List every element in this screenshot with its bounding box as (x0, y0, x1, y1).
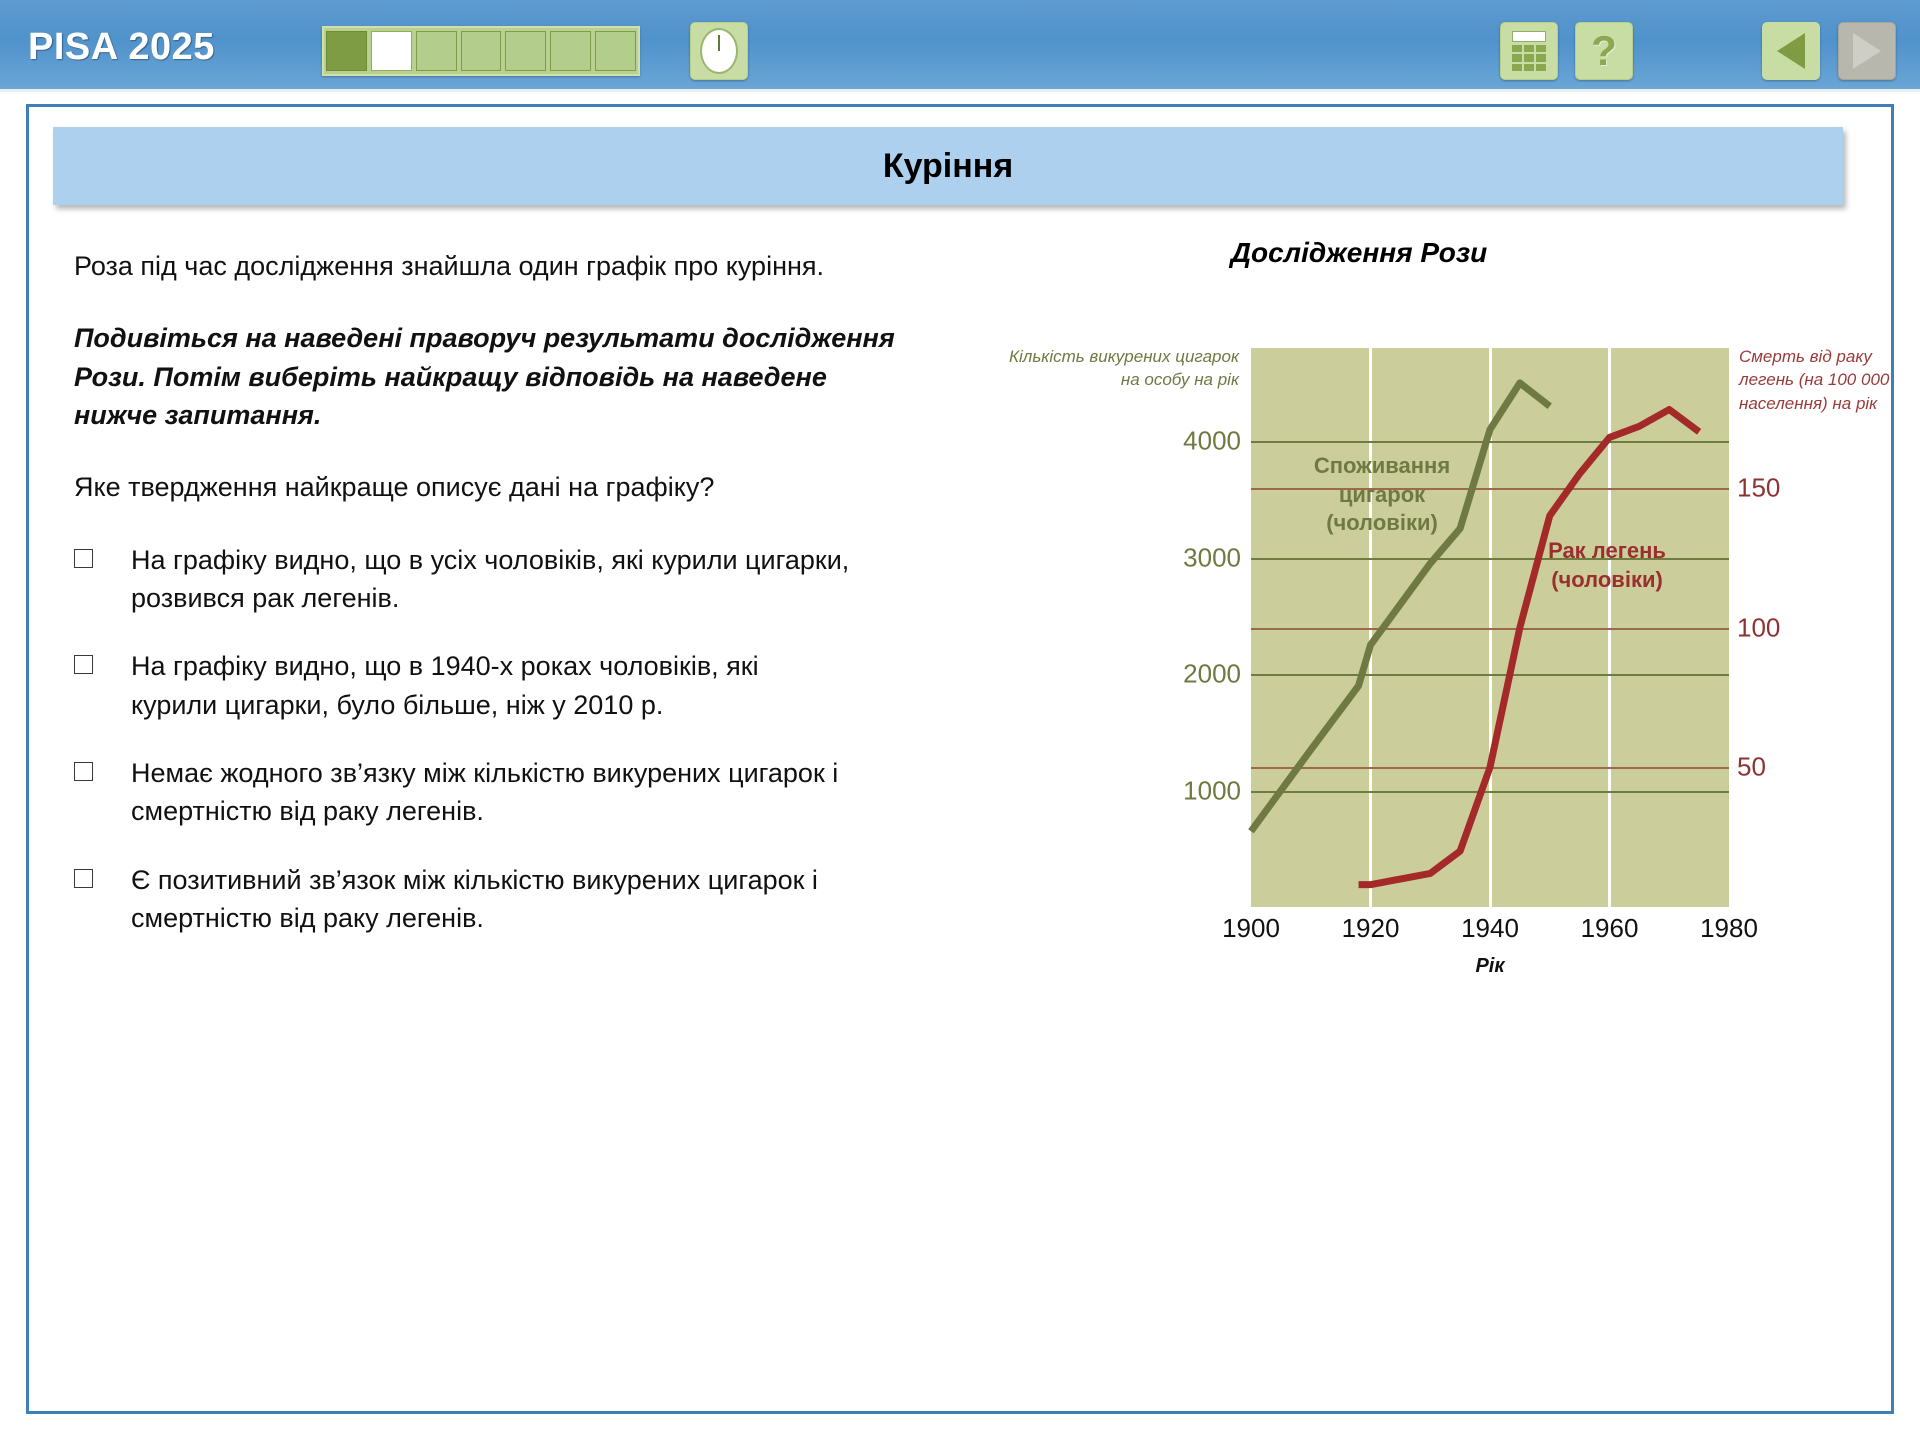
question-mark-icon: ? (1591, 30, 1617, 72)
option-checkbox-2[interactable] (74, 655, 93, 674)
triangle-left-icon (1777, 33, 1805, 69)
progress-segment (326, 31, 367, 71)
chart-x-tick-label: 1900 (1222, 913, 1280, 944)
page-title-band: Куріння (53, 127, 1843, 205)
option-checkbox-3[interactable] (74, 762, 93, 781)
chart-left-tick-label: 2000 (1121, 659, 1241, 690)
chart-left-tick-label: 4000 (1121, 426, 1241, 457)
option-row[interactable]: На графіку видно, що в 1940-х роках чоло… (74, 647, 904, 724)
option-label-1: На графіку видно, що в усіх чоловіків, я… (131, 541, 851, 618)
clock-icon (700, 28, 738, 74)
instruction-paragraph: Подивіться на наведені праворуч результа… (74, 319, 904, 434)
question-column: Роза під час дослідження знайшла один гр… (74, 247, 904, 967)
progress-segment (371, 31, 412, 71)
chart-line-cigarettes (1251, 383, 1550, 831)
chart-left-axis-label: Кількість викурених цигарок на особу на … (999, 345, 1239, 392)
chart-title: Дослідження Рози (899, 237, 1819, 269)
option-label-3: Немає жодного зв’язку між кількістю вику… (131, 754, 851, 831)
chart-x-tick-label: 1920 (1342, 913, 1400, 944)
next-button[interactable] (1838, 22, 1896, 80)
chart-left-tick-label: 3000 (1121, 542, 1241, 573)
chart-right-tick-label: 100 (1737, 612, 1857, 643)
progress-bar[interactable] (322, 26, 640, 76)
progress-segment (505, 31, 546, 71)
triangle-right-icon (1853, 33, 1881, 69)
series-label-cancer: Рак легень(чоловіки) (1507, 537, 1707, 594)
option-checkbox-4[interactable] (74, 869, 93, 888)
chart-x-tick-label: 1960 (1581, 913, 1639, 944)
question-text: Яке твердження найкраще описує дані на г… (74, 468, 904, 506)
progress-segment (595, 31, 636, 71)
chart-left-tick-label: 1000 (1121, 775, 1241, 806)
option-label-2: На графіку видно, що в 1940-х роках чоло… (131, 647, 851, 724)
page-title: Куріння (883, 147, 1013, 186)
answer-options: На графіку видно, що в усіх чоловіків, я… (74, 541, 904, 938)
progress-segment (550, 31, 591, 71)
series-label-cigarettes: Споживанняцигарок(чоловіки) (1267, 452, 1497, 538)
chart-series-lines (1251, 348, 1729, 907)
progress-segment (461, 31, 502, 71)
option-label-4: Є позитивний зв’язок між кількістю викур… (131, 861, 851, 938)
option-row[interactable]: Немає жодного зв’язку між кількістю вику… (74, 754, 904, 831)
pisa-assessment-screen: PISA 2025 ? Куріння (0, 0, 1920, 1438)
option-row[interactable]: Є позитивний зв’язок між кількістю викур… (74, 861, 904, 938)
chart-right-tick-label: 150 (1737, 472, 1857, 503)
top-toolbar: PISA 2025 ? (0, 0, 1920, 92)
intro-paragraph: Роза під час дослідження знайшла один гр… (74, 247, 904, 285)
chart-right-axis-label: Смерть від раку легень (на 100 000 насел… (1739, 345, 1920, 415)
chart-x-tick-label: 1940 (1461, 913, 1519, 944)
clock-button[interactable] (690, 22, 748, 80)
app-brand-title: PISA 2025 (28, 26, 215, 69)
progress-segment (416, 31, 457, 71)
help-button[interactable]: ? (1575, 22, 1633, 80)
chart-x-axis-label: Рік (1251, 955, 1729, 978)
chart-figure: Дослідження Рози Кількість викурених циг… (899, 237, 1819, 1027)
option-row[interactable]: На графіку видно, що в усіх чоловіків, я… (74, 541, 904, 618)
calculator-icon (1510, 29, 1548, 73)
chart-x-tick-label: 1980 (1700, 913, 1758, 944)
option-checkbox-1[interactable] (74, 549, 93, 568)
calculator-button[interactable] (1500, 22, 1558, 80)
content-page: Куріння Роза під час дослідження знайшла… (26, 104, 1894, 1414)
chart-right-tick-label: 50 (1737, 752, 1857, 783)
back-button[interactable] (1762, 22, 1820, 80)
